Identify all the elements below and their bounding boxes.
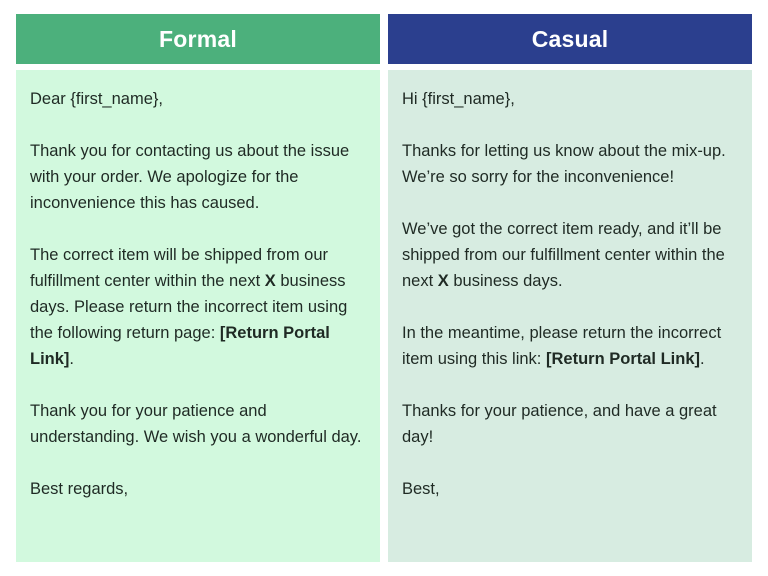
body-text: business days. xyxy=(449,272,563,290)
column-formal: Formal Dear {first_name},Thank you for c… xyxy=(16,14,380,562)
paragraph-formal-greeting: Dear {first_name}, xyxy=(30,86,366,112)
body-text: Thanks for letting us know about the mix… xyxy=(402,142,726,186)
column-header-label-formal: Formal xyxy=(159,28,237,51)
paragraph-casual-apology: Thanks for letting us know about the mix… xyxy=(402,138,738,190)
column-header-formal: Formal xyxy=(16,14,380,64)
emphasized-text: X xyxy=(265,272,276,290)
paragraph-casual-return: In the meantime, please return the incor… xyxy=(402,320,738,372)
emphasized-text: X xyxy=(438,272,449,290)
column-body-formal: Dear {first_name},Thank you for contacti… xyxy=(16,70,380,562)
body-text: Hi {first_name}, xyxy=(402,90,515,108)
emphasized-text: [Return Portal Link] xyxy=(546,350,700,368)
paragraph-formal-signoff: Best regards, xyxy=(30,476,366,502)
paragraph-casual-shipping: We’ve got the correct item ready, and it… xyxy=(402,216,738,294)
paragraph-casual-greeting: Hi {first_name}, xyxy=(402,86,738,112)
body-text: Dear {first_name}, xyxy=(30,90,163,108)
paragraph-formal-shipping: The correct item will be shipped from ou… xyxy=(30,242,366,372)
column-casual: Casual Hi {first_name},Thanks for lettin… xyxy=(388,14,752,562)
body-text: . xyxy=(700,350,705,368)
paragraph-formal-apology: Thank you for contacting us about the is… xyxy=(30,138,366,216)
body-text: . xyxy=(69,350,74,368)
paragraph-casual-closing-thanks: Thanks for your patience, and have a gre… xyxy=(402,398,738,450)
body-text: Thanks for your patience, and have a gre… xyxy=(402,402,717,446)
body-text: Thank you for contacting us about the is… xyxy=(30,142,349,212)
body-text: Thank you for your patience and understa… xyxy=(30,402,361,446)
comparison-table: Formal Dear {first_name},Thank you for c… xyxy=(16,14,752,562)
paragraph-casual-signoff: Best, xyxy=(402,476,738,502)
column-body-casual: Hi {first_name},Thanks for letting us kn… xyxy=(388,70,752,562)
paragraph-formal-closing-thanks: Thank you for your patience and understa… xyxy=(30,398,366,450)
body-text: Best, xyxy=(402,480,440,498)
column-header-casual: Casual xyxy=(388,14,752,64)
body-text: Best regards, xyxy=(30,480,128,498)
column-header-label-casual: Casual xyxy=(532,28,609,51)
